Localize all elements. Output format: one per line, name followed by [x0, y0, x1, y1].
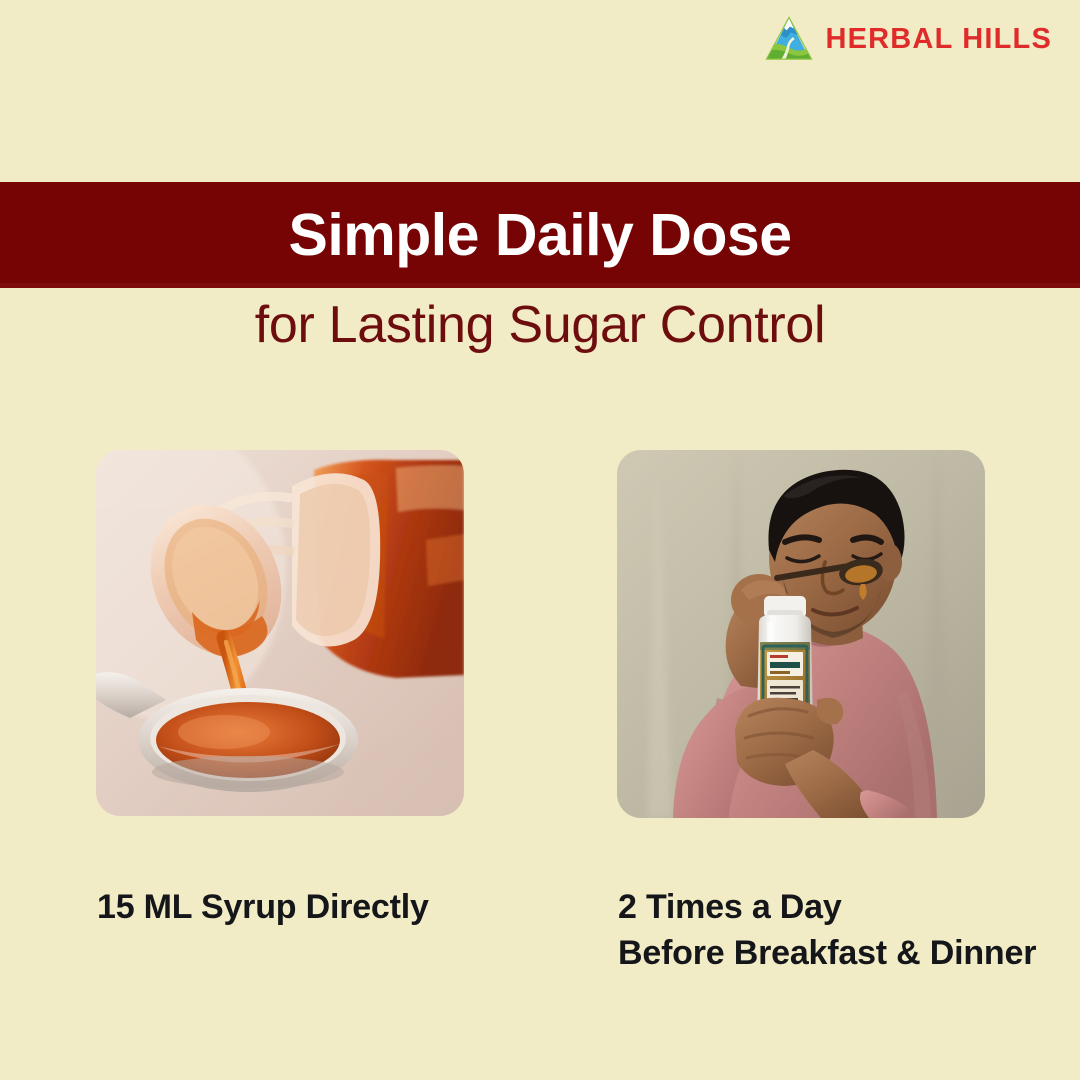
brand-name: HERBAL HILLS [825, 23, 1052, 56]
photo-card-syrup-pour [96, 450, 464, 816]
herbal-hills-mountain-triangle-icon [765, 16, 813, 62]
title-band: Simple Daily Dose [0, 182, 1080, 288]
brand-header: HERBAL HILLS [765, 16, 1052, 62]
man-taking-syrup-photo [617, 450, 985, 818]
photo-card-dosage-timing [617, 450, 985, 818]
page-subtitle: for Lasting Sugar Control [0, 296, 1080, 356]
syrup-pouring-photo [96, 450, 464, 816]
page-title: Simple Daily Dose [288, 206, 791, 265]
caption-syrup-dose: 15 ML Syrup Directly [97, 884, 517, 930]
caption-dose-frequency: 2 Times a Day Before Breakfast & Dinner [618, 884, 1068, 976]
